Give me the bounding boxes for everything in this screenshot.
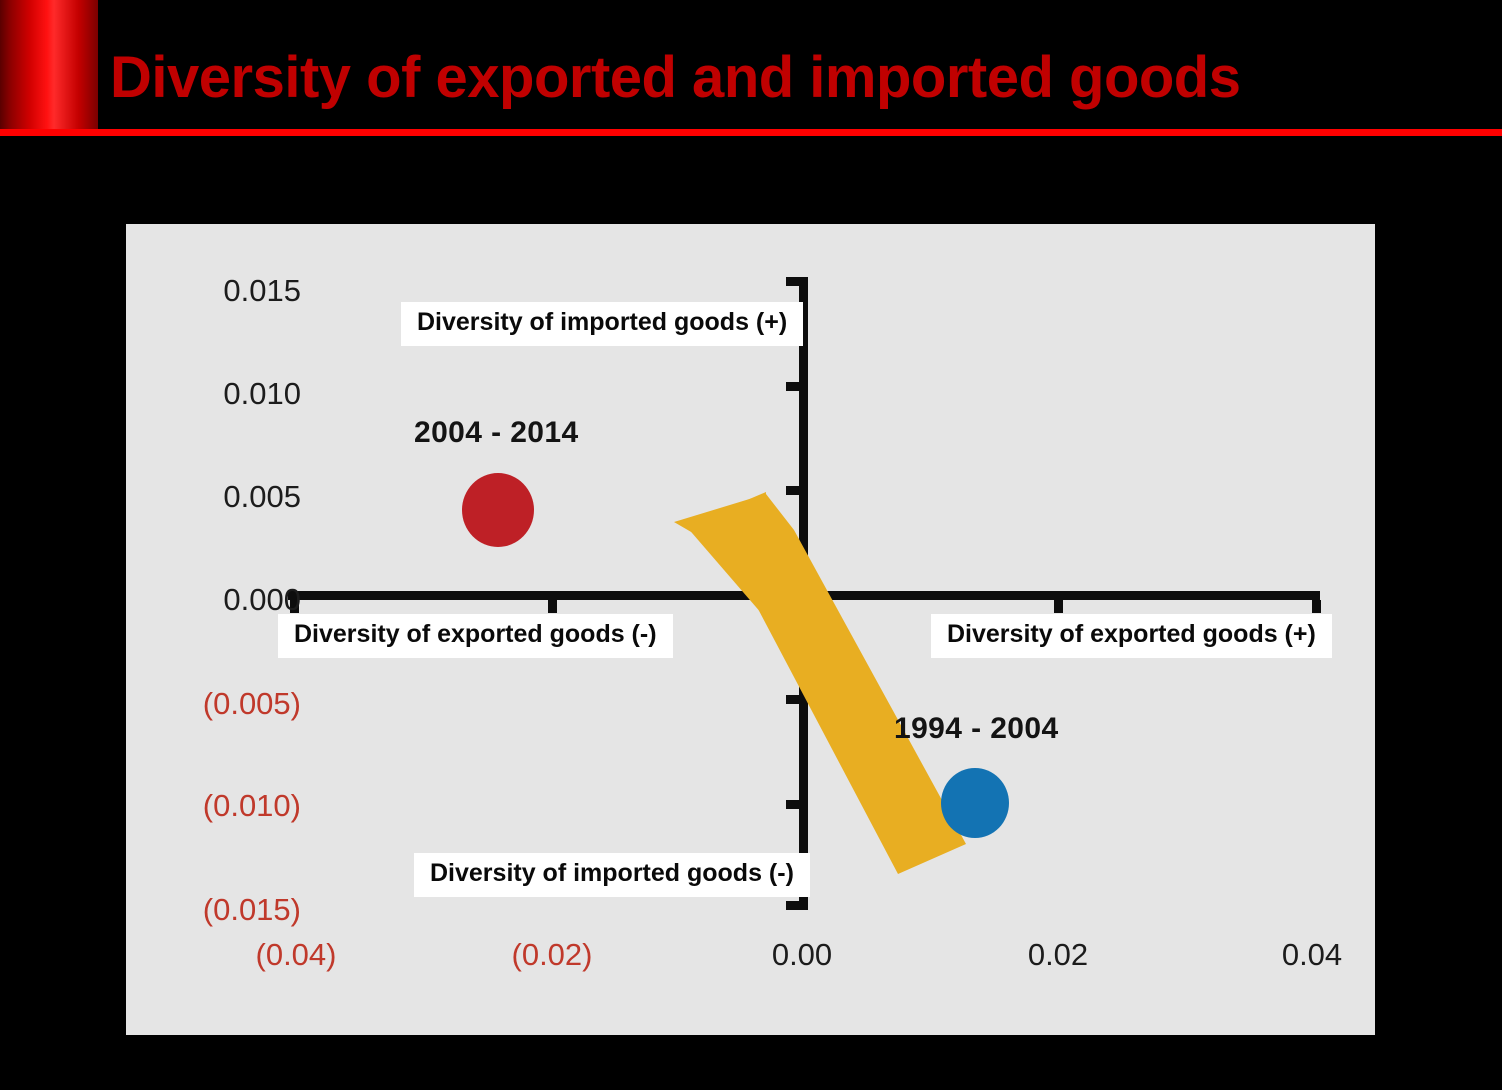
y-axis-line xyxy=(799,277,808,910)
x-tick-mark xyxy=(1054,600,1063,613)
accent-bar-decoration xyxy=(0,0,98,131)
x-tick-mark xyxy=(548,600,557,613)
x-tick-label: (0.04) xyxy=(256,937,337,973)
x-tick-label: 0.04 xyxy=(1282,937,1342,973)
y-tick-label: (0.005) xyxy=(168,686,301,722)
bubble-2004-2014[interactable] xyxy=(462,473,534,547)
chart-plot-area: 0.015 0.010 0.005 0.000 (0.005) (0.010) … xyxy=(126,224,1375,1035)
bubble-1994-2004[interactable] xyxy=(941,768,1009,838)
y-tick-label: (0.010) xyxy=(168,788,301,824)
title-divider xyxy=(0,129,1502,136)
x-tick-label: 0.02 xyxy=(1028,937,1088,973)
callout-imported-negative: Diversity of imported goods (-) xyxy=(414,853,810,897)
y-tick-mark xyxy=(786,800,799,809)
callout-exported-positive: Diversity of exported goods (+) xyxy=(931,614,1332,658)
series-label-2004-2014: 2004 - 2014 xyxy=(414,416,579,450)
y-tick-mark xyxy=(786,695,799,704)
x-tick-mark xyxy=(799,600,808,613)
y-tick-mark xyxy=(786,382,799,391)
x-tick-label: 0.00 xyxy=(772,937,832,973)
y-tick-mark xyxy=(786,277,799,286)
y-tick-label: 0.005 xyxy=(181,479,301,515)
y-tick-mark xyxy=(786,486,799,495)
y-tick-label: 0.015 xyxy=(181,273,301,309)
callout-imported-positive: Diversity of imported goods (+) xyxy=(401,302,803,346)
y-tick-label: 0.010 xyxy=(181,376,301,412)
y-tick-label: (0.015) xyxy=(168,892,301,928)
y-tick-label: 0.000 xyxy=(181,582,301,618)
y-tick-mark xyxy=(786,901,799,910)
slide-header: Diversity of exported and imported goods xyxy=(0,0,1502,140)
series-label-1994-2004: 1994 - 2004 xyxy=(894,712,1059,746)
page-title: Diversity of exported and imported goods xyxy=(110,48,1240,109)
callout-exported-negative: Diversity of exported goods (-) xyxy=(278,614,673,658)
x-tick-mark xyxy=(1312,600,1321,613)
x-tick-label: (0.02) xyxy=(512,937,593,973)
